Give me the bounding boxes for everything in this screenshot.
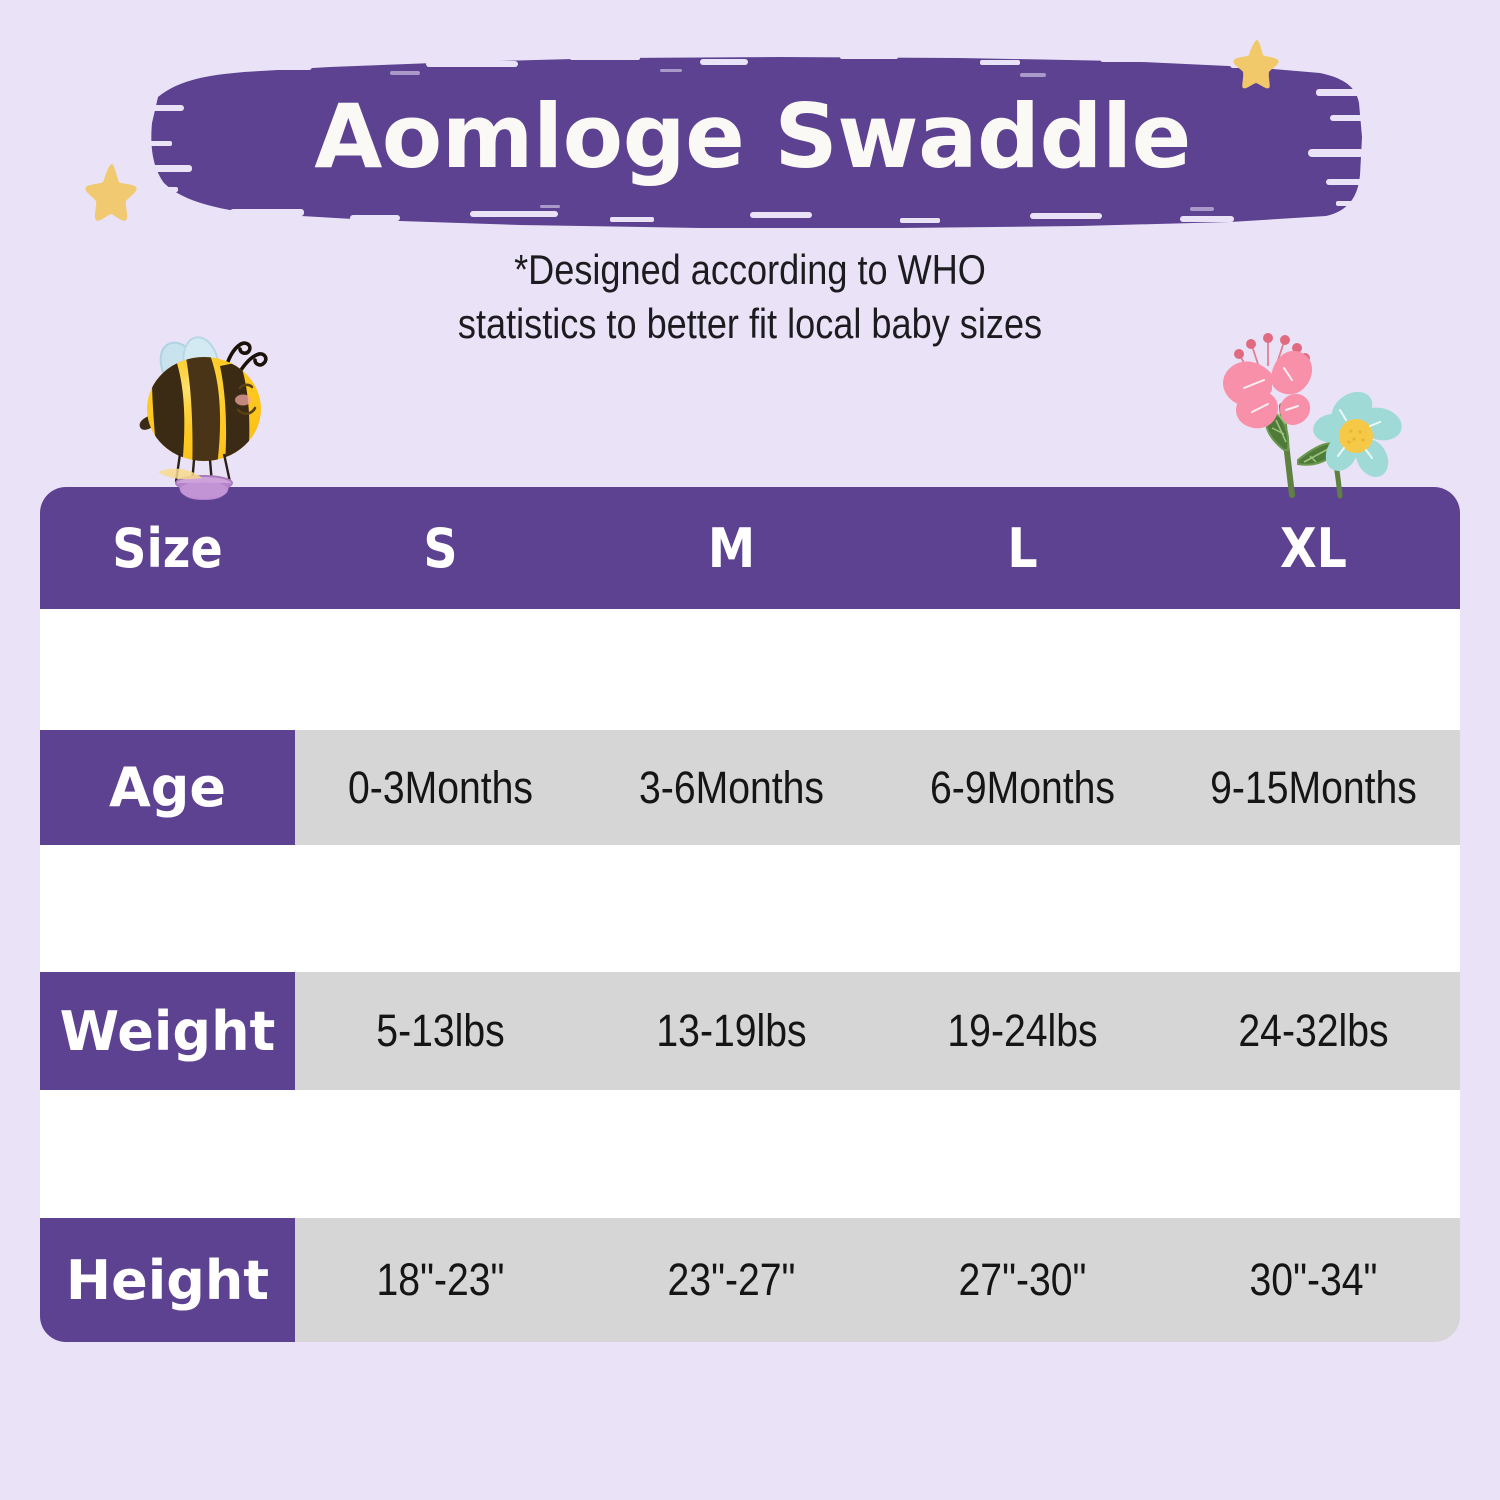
- cell-weight-l: 19-24lbs: [896, 1005, 1149, 1057]
- cell-age-l: 6-9Months: [896, 762, 1149, 814]
- header-size-s: S: [312, 517, 568, 580]
- row-values-weight: 5-13lbs 13-19lbs 19-24lbs 24-32lbs: [295, 972, 1460, 1090]
- cell-height-m: 23"-27": [605, 1254, 858, 1306]
- flowers-icon: [1180, 310, 1410, 502]
- table-row: Weight 5-13lbs 13-19lbs 19-24lbs 24-32lb…: [40, 972, 1460, 1090]
- cell-weight-m: 13-19lbs: [605, 1005, 858, 1057]
- cell-age-s: 0-3Months: [314, 762, 567, 814]
- star-icon: [1228, 38, 1286, 90]
- cell-height-l: 27"-30": [896, 1254, 1149, 1306]
- page-title: Aomloge Swaddle: [140, 45, 1365, 235]
- row-values-age: 0-3Months 3-6Months 6-9Months 9-15Months: [295, 730, 1460, 845]
- row-divider: [40, 609, 1460, 730]
- table-row: Height 18"-23" 23"-27" 27"-30" 30"-34": [40, 1218, 1460, 1342]
- row-label-age: Age: [40, 730, 295, 845]
- cell-weight-s: 5-13lbs: [314, 1005, 567, 1057]
- row-label-weight: Weight: [40, 972, 295, 1090]
- cell-height-s: 18"-23": [314, 1254, 567, 1306]
- row-values-height: 18"-23" 23"-27" 27"-30" 30"-34": [295, 1218, 1460, 1342]
- size-chart-page: Aomloge Swaddle *Designed according to W…: [0, 0, 1500, 1500]
- star-icon: [78, 160, 146, 228]
- header-size-m: M: [603, 517, 859, 580]
- row-label-height: Height: [40, 1218, 295, 1342]
- header-size-l: L: [894, 517, 1150, 580]
- cell-weight-xl: 24-32lbs: [1187, 1005, 1440, 1057]
- cell-age-xl: 9-15Months: [1187, 762, 1440, 814]
- cell-age-m: 3-6Months: [605, 762, 858, 814]
- table-row: Age 0-3Months 3-6Months 6-9Months 9-15Mo…: [40, 730, 1460, 845]
- row-divider: [40, 1090, 1460, 1218]
- header-size-xl: XL: [1185, 517, 1441, 580]
- row-divider: [40, 845, 1460, 972]
- size-chart-table: Size S M L XL Age 0-3Months 3-6Months 6-…: [40, 487, 1460, 1342]
- subtitle-line-1: *Designed according to WHO: [105, 243, 1395, 297]
- bee-icon: [128, 322, 278, 500]
- cell-height-xl: 30"-34": [1187, 1254, 1440, 1306]
- table-header-row: Size S M L XL: [40, 487, 1460, 609]
- title-banner: Aomloge Swaddle: [140, 45, 1365, 235]
- header-size-label: Size: [55, 517, 279, 580]
